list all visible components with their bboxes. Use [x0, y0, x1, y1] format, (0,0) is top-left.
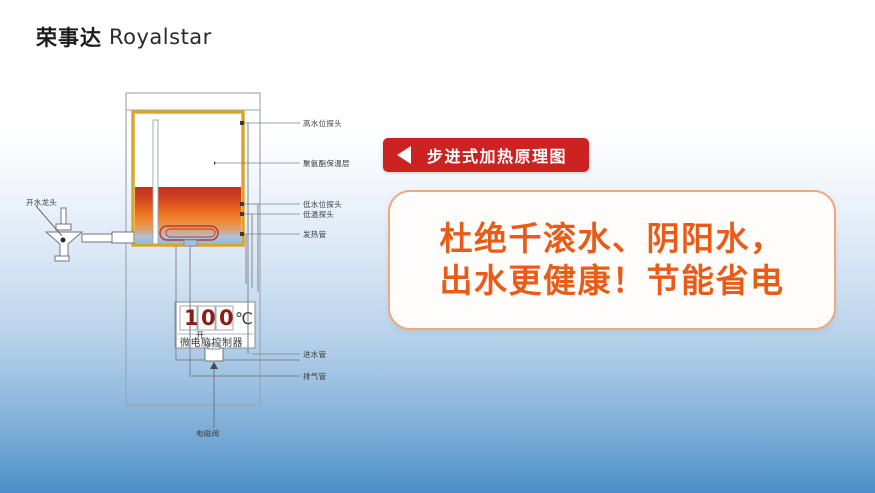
label-high-level-probe: 高水位探头 [303, 118, 342, 129]
brand-logo: 荣事达 Royalstar [36, 22, 212, 52]
slide-canvas: 荣事达 Royalstar [0, 0, 875, 493]
label-heating-tube: 发热管 [303, 229, 326, 240]
controller-unit: ℃ [235, 309, 253, 328]
label-inlet-pipe: 进水管 [303, 349, 326, 360]
section-banner-label: 步进式加热原理图 [427, 143, 567, 167]
label-faucet: 开水龙头 [26, 197, 57, 208]
headline-line-1: 杜绝千滚水、阴阳水， [440, 218, 785, 260]
controller-caption: 微电脑控制器 [180, 334, 243, 349]
brand-name-cn: 荣事达 [36, 22, 102, 52]
controller-digit-2: 0 [201, 306, 216, 330]
water-boiler-diagram: 开水龙头 高水位探头 聚氨酯保温层 低水位探头 低温探头 发热管 进水管 排气管… [0, 60, 400, 460]
controller-digit-1: 1 [184, 306, 199, 330]
section-banner: 步进式加热原理图 [383, 138, 589, 172]
tank-drain-fitting [184, 240, 197, 246]
headline-card: 杜绝千滚水、阴阳水， 出水更健康！节能省电 [388, 190, 836, 330]
triangle-left-icon [397, 146, 411, 164]
brand-name-en: Royalstar [109, 25, 212, 49]
solenoid-valve-symbol [205, 344, 223, 428]
label-exhaust-pipe: 排气管 [303, 371, 326, 382]
label-low-temp-probe: 低温探头 [303, 209, 334, 220]
water-tank [133, 112, 243, 245]
controller-digit-3: 0 [219, 306, 234, 330]
label-solenoid-valve: 电磁阀 [196, 428, 219, 439]
label-insulation-layer: 聚氨酯保温层 [303, 158, 350, 169]
hot-water-faucet [46, 208, 134, 261]
standpipe [153, 120, 158, 244]
headline-line-2: 出水更健康！节能省电 [440, 260, 785, 302]
